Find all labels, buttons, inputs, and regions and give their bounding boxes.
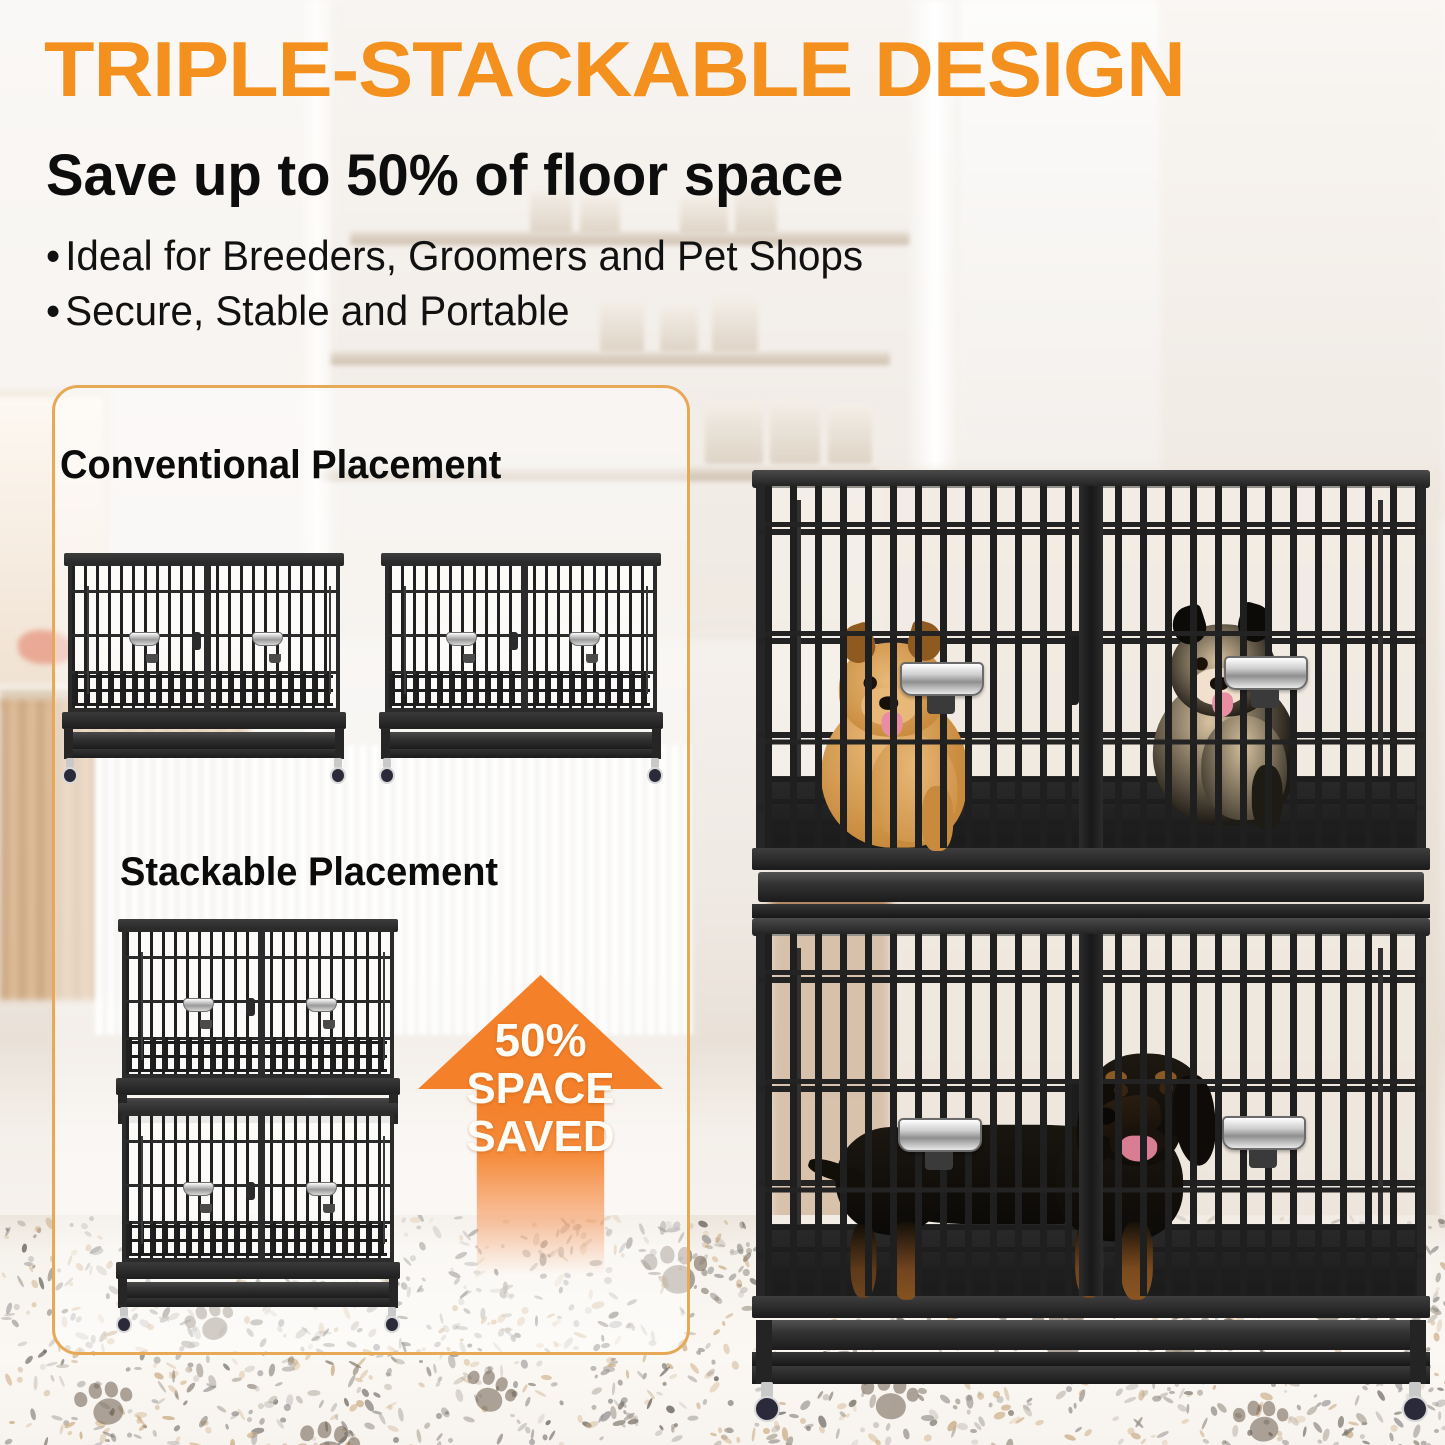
slide-out-tray[interactable] xyxy=(387,732,655,749)
benefit-item-1: •Ideal for Breeders, Groomers and Pet Sh… xyxy=(46,228,863,283)
crate-inner-right-wall xyxy=(383,952,385,1060)
dog-foreleg-front xyxy=(1120,1222,1152,1300)
dog-tongue xyxy=(881,712,902,737)
caster-wheel-right xyxy=(647,758,663,784)
crate-under-rail xyxy=(64,749,344,758)
crate-base-rail xyxy=(62,712,346,729)
dog-dachshund xyxy=(844,1060,1233,1308)
dog-foreleg xyxy=(922,786,953,851)
hero-crate-lower-tray[interactable] xyxy=(758,1320,1424,1350)
feeding-bowl xyxy=(1224,656,1308,690)
feeding-bowl-left xyxy=(183,1182,214,1196)
feeding-bowl-bracket xyxy=(925,1152,954,1170)
dog-eyebrow-left xyxy=(1105,1071,1127,1084)
dog-eye-left xyxy=(1195,657,1208,670)
benefit-label-2: Secure, Stable and Portable xyxy=(65,287,569,334)
crate-base-rail xyxy=(116,1262,400,1279)
crate-leg-right xyxy=(652,728,661,759)
feeding-bowl-right xyxy=(569,632,600,646)
hero-crate-bottom-frame xyxy=(752,1366,1430,1384)
crate-inner-left-wall xyxy=(87,586,89,694)
hero-crate-upper-under-rail xyxy=(752,904,1430,918)
crate-inner-right-wall xyxy=(383,1136,385,1244)
background-box-8 xyxy=(705,400,763,464)
feeding-bowl-right xyxy=(306,1182,337,1196)
feeding-bowl xyxy=(898,1118,982,1152)
dog-eye-left xyxy=(1114,1084,1128,1097)
caster-wheel-left xyxy=(62,758,78,784)
dog-eye-left xyxy=(864,676,877,689)
crate-door-divider[interactable] xyxy=(258,1116,265,1258)
feeding-bowl-left xyxy=(446,632,477,646)
caster-wheel-right xyxy=(330,758,346,784)
caster-wheel-left xyxy=(116,1307,132,1333)
crate-inner-left-wall xyxy=(404,586,406,694)
feeding-bowl-left xyxy=(183,998,214,1012)
hero-product-image xyxy=(752,470,1430,1330)
hero-crate-lower-under-rail xyxy=(752,1352,1430,1366)
dog-crate xyxy=(68,562,340,772)
dog-tongue xyxy=(1212,692,1233,716)
conventional-placement-label: Conventional Placement xyxy=(60,443,501,488)
hero-caster-right xyxy=(1402,1382,1428,1422)
benefit-list: •Ideal for Breeders, Groomers and Pet Sh… xyxy=(46,228,897,338)
dog-pomeranian xyxy=(812,618,1025,881)
crate-under-rail xyxy=(118,1298,398,1307)
slide-out-tray[interactable] xyxy=(70,732,338,749)
crate-leg-right xyxy=(335,728,344,759)
space-saved-percent: 50% xyxy=(418,1015,663,1065)
hero-crate-lower-door-divider-front[interactable] xyxy=(1079,934,1103,1296)
crate-latch[interactable] xyxy=(192,632,201,650)
space-saved-word-space: SPACE xyxy=(418,1065,663,1113)
feeding-bowl-bracket xyxy=(1249,1150,1278,1168)
feeding-bowl-right xyxy=(306,998,337,1012)
dog-pomeranian xyxy=(1144,600,1350,854)
hero-crate-leg-right xyxy=(1410,1320,1426,1384)
crate-barred-body xyxy=(122,1112,394,1262)
crate-inner-right-wall xyxy=(329,586,331,694)
crate-base-rail xyxy=(379,712,663,729)
crate-inner-left-wall xyxy=(141,952,143,1060)
benefit-label-1: Ideal for Breeders, Groomers and Pet Sho… xyxy=(65,232,863,279)
background-box-10 xyxy=(828,404,872,464)
dog-eye-right xyxy=(1159,1082,1173,1095)
crate-door-divider[interactable] xyxy=(258,932,265,1074)
crate-door-divider[interactable] xyxy=(204,566,211,708)
space-saved-badge: 50% SPACE SAVED xyxy=(418,1015,663,1161)
hero-crate-upper-door-divider-front[interactable] xyxy=(1079,486,1103,848)
slide-out-tray[interactable] xyxy=(124,1282,392,1298)
crate-base-rail xyxy=(116,1078,400,1095)
stackable-placement-label: Stackable Placement xyxy=(120,850,498,895)
caster-wheel-right xyxy=(384,1307,400,1333)
dog-crate xyxy=(122,1112,394,1322)
dog-crate xyxy=(385,562,657,772)
crate-leg-left xyxy=(381,728,390,759)
dog-crate xyxy=(122,928,394,1112)
feeding-bowl-bracket xyxy=(1251,690,1280,708)
benefit-item-2: •Secure, Stable and Portable xyxy=(46,283,863,338)
feeding-bowl-right xyxy=(252,632,283,646)
caster-wheel-left xyxy=(379,758,395,784)
feeding-bowl-bracket xyxy=(927,696,956,714)
subtitle: Save up to 50% of floor space xyxy=(46,145,843,207)
dog-hindleg-back xyxy=(850,1224,876,1297)
crate-latch[interactable] xyxy=(509,632,518,650)
feeding-bowl xyxy=(900,662,984,696)
dog-ear-right xyxy=(1170,1073,1220,1168)
hero-crate-leg-left xyxy=(756,1320,772,1384)
hero-caster-left xyxy=(754,1382,780,1422)
dog-hindleg-front xyxy=(892,1222,922,1300)
crate-inner-right-wall xyxy=(646,586,648,694)
space-saved-word-saved: SAVED xyxy=(418,1113,663,1161)
crate-door-divider[interactable] xyxy=(521,566,528,708)
dog-nose xyxy=(879,696,898,709)
hero-crate-upper-latch[interactable] xyxy=(1065,631,1079,705)
crate-barred-body xyxy=(122,928,394,1078)
crate-leg-left xyxy=(64,728,73,759)
crate-barred-body xyxy=(385,562,657,712)
crate-latch[interactable] xyxy=(246,998,255,1016)
crate-leg-right xyxy=(389,1278,398,1308)
background-box-9 xyxy=(770,398,820,464)
background-shelf-2 xyxy=(330,352,890,365)
crate-inner-left-wall xyxy=(141,1136,143,1244)
feeding-bowl xyxy=(1222,1116,1306,1150)
dog-tongue xyxy=(1120,1136,1157,1162)
crate-latch[interactable] xyxy=(246,1182,255,1200)
crate-leg-left xyxy=(118,1278,127,1308)
dog-foreleg xyxy=(1252,765,1283,829)
feeding-bowl-left xyxy=(129,632,160,646)
crate-barred-body xyxy=(68,562,340,712)
crate-under-rail xyxy=(381,749,661,758)
page-title: TRIPLE-STACKABLE DESIGN xyxy=(44,28,1445,110)
